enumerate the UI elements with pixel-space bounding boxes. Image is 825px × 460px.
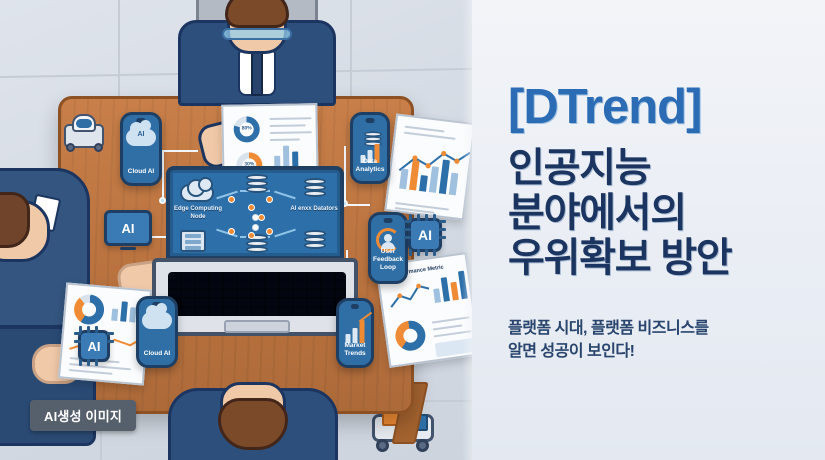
phone-label: Cloud AI <box>139 350 175 358</box>
connector-line <box>162 150 164 200</box>
laptop-keyboard[interactable] <box>168 272 346 316</box>
headline-line-1: 인공지능 <box>508 146 732 191</box>
phone-label: Data Analytics <box>353 158 387 174</box>
connector-node <box>159 197 166 204</box>
trend-up-icon <box>346 319 365 343</box>
headline: 인공지능 분야에서의 우위확보 방안 <box>508 146 732 280</box>
laptop-trackpad[interactable] <box>224 320 290 333</box>
laptop-screen: Edge Computing Node AI enxx Datators <box>166 166 344 260</box>
ai-chip-right[interactable]: AI <box>408 218 442 252</box>
robot-wheel <box>66 143 75 152</box>
person-bottom <box>168 382 338 460</box>
robot-wheel <box>94 143 103 152</box>
headline-line-3: 우위확보 방안 <box>508 236 732 281</box>
ar-glasses-icon <box>222 28 292 40</box>
phone-notch <box>351 304 359 309</box>
subheadline-line-2: 알면 성공이 보인다! <box>508 341 709 364</box>
headline-line-2: 분야에서의 <box>508 191 732 236</box>
phone-cloud-ai-top[interactable]: AI Cloud AI <box>120 112 162 186</box>
trend-arrow-icon <box>359 312 372 322</box>
cloud-ai-icon <box>142 312 172 329</box>
subheadline-line-1: 플랫폼 시대, 플랫폼 비즈니스를 <box>508 318 709 341</box>
chip-pins <box>404 214 446 256</box>
monitor-stand-icon <box>120 247 136 250</box>
ai-office-illustration: 80% 30% <box>0 0 472 460</box>
line-chart <box>386 279 433 313</box>
robot-visor-icon <box>76 119 92 128</box>
paper-trend-report <box>384 113 472 220</box>
ai-generated-badge: AI생성 이미지 <box>30 400 136 431</box>
ai-datastore-label: AI enxx Datators <box>286 206 342 214</box>
phone-market-trends[interactable]: Market Trends <box>336 298 374 368</box>
chip-label: AI <box>122 221 135 236</box>
chip-pins <box>74 326 114 366</box>
necktie <box>251 52 263 96</box>
subheadline: 플랫폼 시대, 플랫폼 비즈니스를 알면 성공이 보인다! <box>508 318 709 363</box>
phone-notch <box>366 118 375 123</box>
connector-line <box>162 150 198 152</box>
ai-chip-bottom[interactable]: AI <box>78 330 110 362</box>
ai-monitor-left[interactable]: AI <box>104 210 152 246</box>
connector-line <box>344 146 346 204</box>
phone-data-analytics[interactable]: Data Analytics <box>350 112 390 184</box>
person-top <box>178 0 336 104</box>
hair <box>225 0 289 28</box>
phone-user-feedback[interactable]: User Feedback Loop <box>368 212 408 284</box>
phone-notch <box>384 218 393 223</box>
phone-label: Cloud AI <box>123 168 159 176</box>
hair <box>218 398 288 450</box>
donut-value: 80% <box>234 125 260 131</box>
brand-title: [DTrend] <box>508 83 701 132</box>
cloud-ai-icon: AI <box>126 129 156 146</box>
cart-wheel <box>416 439 429 452</box>
phone-label: User Feedback Loop <box>371 248 405 272</box>
user-head-icon <box>384 234 392 242</box>
network-diagram: Edge Computing Node AI enxx Datators <box>170 170 340 256</box>
edge-node-label: Edge Computing Node <box>172 206 224 221</box>
text-panel: [DTrend] 인공지능 분야에서의 우위확보 방안 플랫폼 시대, 플랫폼 … <box>472 0 825 460</box>
phone-cloud-ai-bottom[interactable]: Cloud AI <box>136 296 178 368</box>
laptop-base <box>152 258 358 336</box>
cart-wheel <box>376 439 389 452</box>
poster-root: 80% 30% <box>0 0 825 460</box>
phone-label: Market Trends <box>339 342 371 358</box>
desk-robot <box>62 114 106 150</box>
